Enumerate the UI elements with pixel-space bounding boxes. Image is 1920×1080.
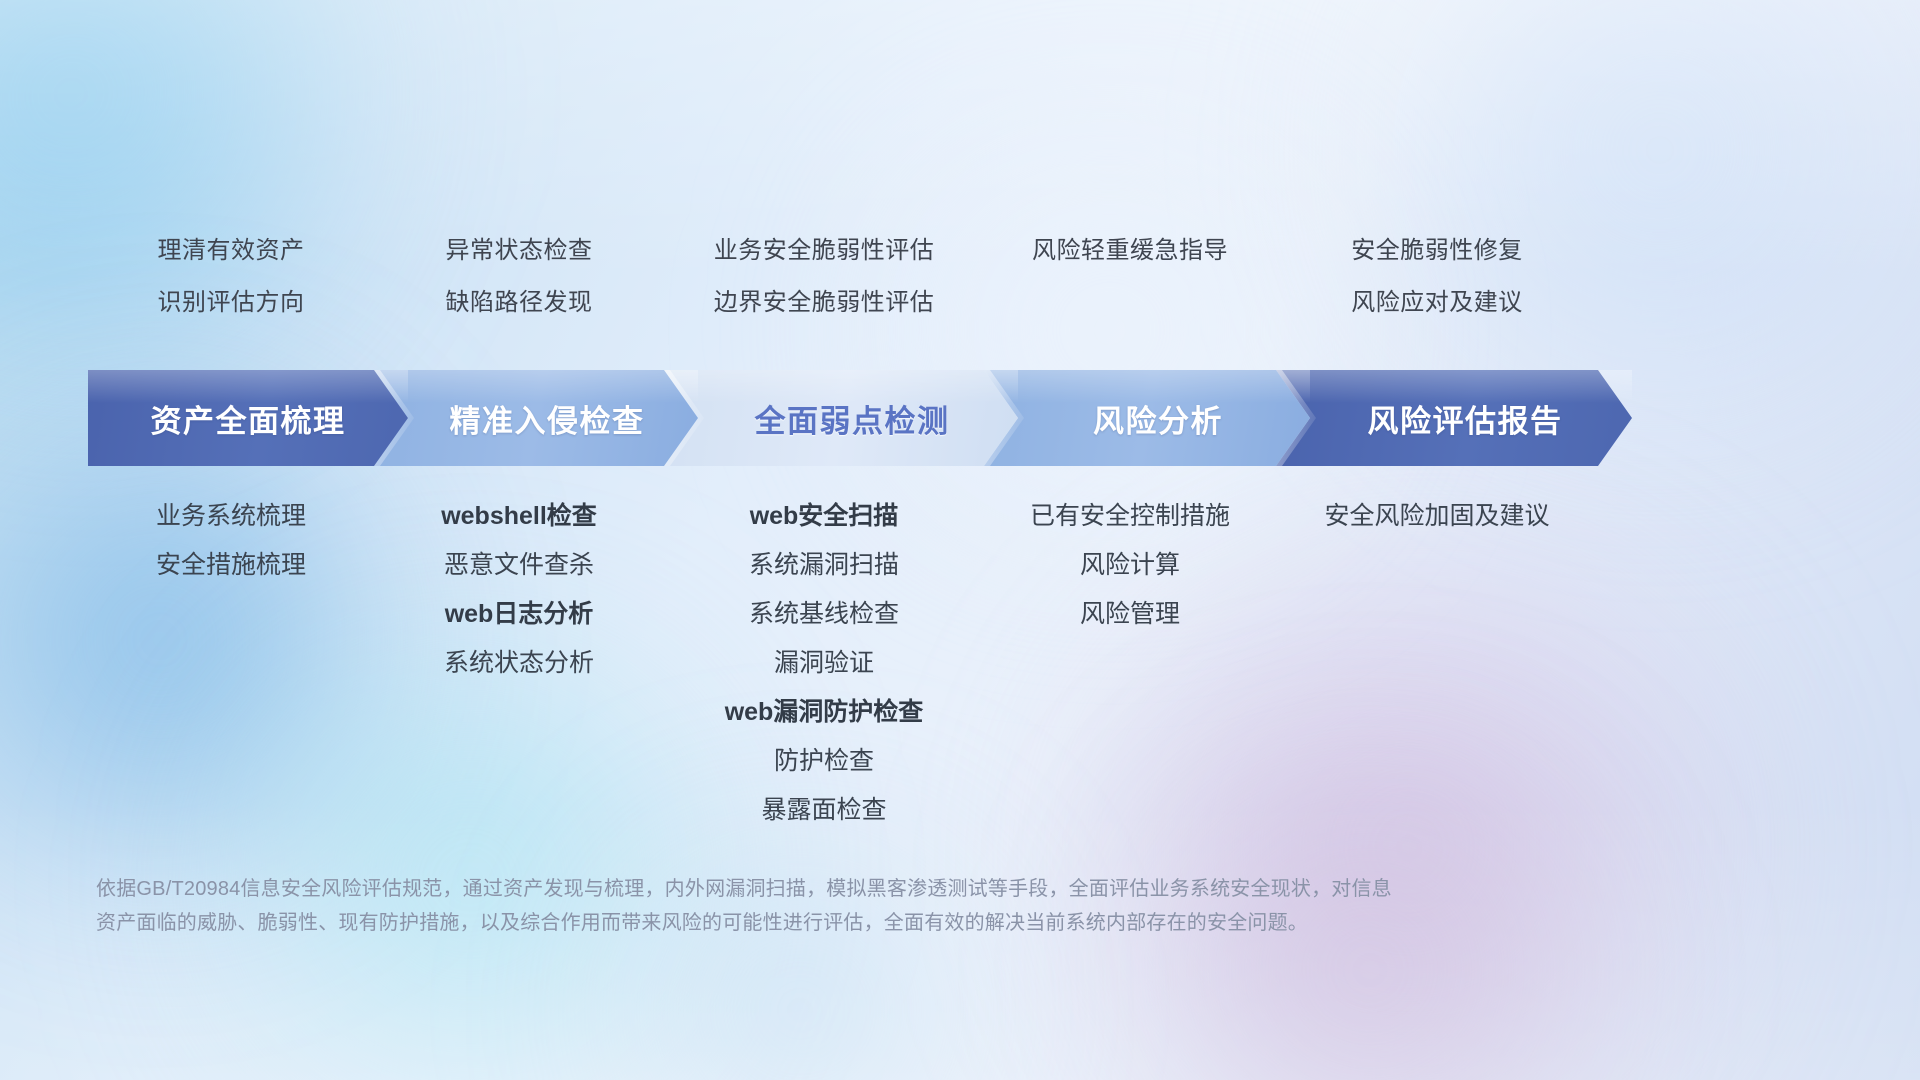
detail-item: 安全措施梳理 <box>88 541 374 590</box>
top-caption: 缺陷路径发现 <box>374 277 664 329</box>
detail-item: 安全风险加固及建议 <box>1276 492 1598 541</box>
top-caption-group-asset-inventory: 理清有效资产识别评估方向 <box>88 225 374 329</box>
stage-label: 风险分析 <box>1093 396 1223 441</box>
detail-item: web安全扫描 <box>664 492 984 541</box>
detail-item: 漏洞验证 <box>664 639 984 688</box>
top-caption: 风险轻重缓急指导 <box>984 225 1276 277</box>
stage-label: 精准入侵检查 <box>450 396 645 441</box>
stage-chevron-intrusion-check[interactable]: 精准入侵检查 <box>374 370 698 466</box>
stage-chevron-risk-analysis[interactable]: 风险分析 <box>984 370 1310 466</box>
top-caption: 风险应对及建议 <box>1276 277 1598 329</box>
detail-group-risk-report: 安全风险加固及建议 <box>1276 492 1598 541</box>
detail-item: 业务系统梳理 <box>88 492 374 541</box>
detail-item: 暴露面检查 <box>664 786 984 835</box>
detail-item: 系统漏洞扫描 <box>664 541 984 590</box>
detail-item: web日志分析 <box>374 590 664 639</box>
top-caption: 识别评估方向 <box>88 277 374 329</box>
detail-item: 已有安全控制措施 <box>984 492 1276 541</box>
footer-line-1: 依据GB/T20984信息安全风险评估规范，通过资产发现与梳理，内外网漏洞扫描，… <box>96 872 1656 906</box>
detail-item: 系统状态分析 <box>374 639 664 688</box>
top-caption-row: 理清有效资产识别评估方向异常状态检查缺陷路径发现业务安全脆弱性评估边界安全脆弱性… <box>88 225 1832 329</box>
detail-item: web漏洞防护检查 <box>664 688 984 737</box>
detail-group-weakness-detection: web安全扫描系统漏洞扫描系统基线检查漏洞验证web漏洞防护检查防护检查暴露面检… <box>664 492 984 835</box>
stage-chevron-weakness-detection[interactable]: 全面弱点检测 <box>664 370 1018 466</box>
stage-chevron-band: 资产全面梳理精准入侵检查全面弱点检测风险分析风险评估报告 <box>88 370 1832 466</box>
stage-label: 资产全面梳理 <box>151 396 346 441</box>
detail-item: 风险计算 <box>984 541 1276 590</box>
top-caption: 异常状态检查 <box>374 225 664 277</box>
detail-item: 风险管理 <box>984 590 1276 639</box>
top-caption-group-risk-analysis: 风险轻重缓急指导 <box>984 225 1276 277</box>
detail-item: webshell检查 <box>374 492 664 541</box>
detail-group-intrusion-check: webshell检查恶意文件查杀web日志分析系统状态分析 <box>374 492 664 688</box>
bottom-detail-row: 业务系统梳理安全措施梳理webshell检查恶意文件查杀web日志分析系统状态分… <box>88 492 1832 835</box>
detail-item: 系统基线检查 <box>664 590 984 639</box>
stage-label: 风险评估报告 <box>1368 396 1563 441</box>
footer-line-2: 资产面临的威胁、脆弱性、现有防护措施，以及综合作用而带来风险的可能性进行评估，全… <box>96 906 1656 940</box>
stage-chevron-risk-report[interactable]: 风险评估报告 <box>1276 370 1632 466</box>
top-caption-group-weakness-detection: 业务安全脆弱性评估边界安全脆弱性评估 <box>664 225 984 329</box>
top-caption-group-intrusion-check: 异常状态检查缺陷路径发现 <box>374 225 664 329</box>
top-caption: 理清有效资产 <box>88 225 374 277</box>
top-caption: 安全脆弱性修复 <box>1276 225 1598 277</box>
detail-item: 恶意文件查杀 <box>374 541 664 590</box>
top-caption: 边界安全脆弱性评估 <box>664 277 984 329</box>
stage-chevron-asset-inventory[interactable]: 资产全面梳理 <box>88 370 408 466</box>
footer-description: 依据GB/T20984信息安全风险评估规范，通过资产发现与梳理，内外网漏洞扫描，… <box>96 872 1656 940</box>
detail-group-asset-inventory: 业务系统梳理安全措施梳理 <box>88 492 374 590</box>
top-caption-group-risk-report: 安全脆弱性修复风险应对及建议 <box>1276 225 1598 329</box>
detail-group-risk-analysis: 已有安全控制措施风险计算风险管理 <box>984 492 1276 639</box>
detail-item: 防护检查 <box>664 737 984 786</box>
top-caption: 业务安全脆弱性评估 <box>664 225 984 277</box>
process-diagram: 理清有效资产识别评估方向异常状态检查缺陷路径发现业务安全脆弱性评估边界安全脆弱性… <box>0 0 1920 1080</box>
stage-label: 全面弱点检测 <box>755 396 950 441</box>
